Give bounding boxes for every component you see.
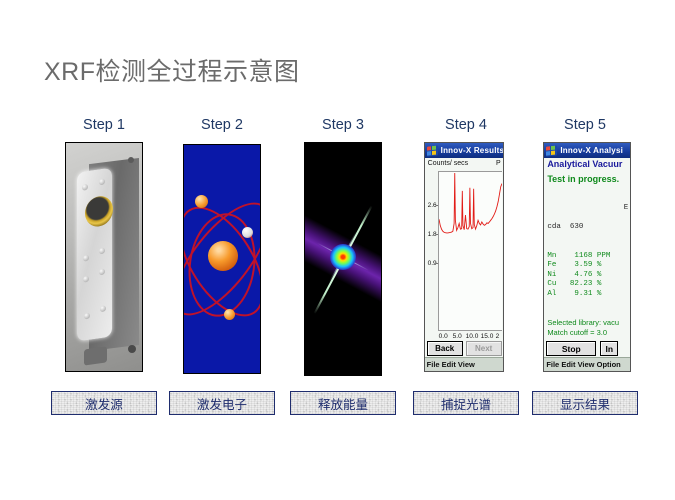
step-label-1: Step 1	[46, 114, 162, 136]
next-button[interactable]: Next	[466, 341, 502, 356]
caption-text-3: 释放能量	[318, 394, 368, 413]
xray-beam-image	[305, 143, 381, 375]
caption-text-1: 激发源	[85, 394, 123, 413]
instrument-base	[84, 347, 107, 366]
caption-box-2[interactable]: 激发电子	[169, 391, 275, 415]
caption-text-5: 显示结果	[560, 394, 610, 413]
peaks-label: P	[496, 160, 501, 167]
step-figure-1-instrument-photo	[65, 142, 143, 372]
keypad-button	[83, 276, 89, 283]
results-column-header: E	[624, 204, 629, 212]
x-tick-label: 5.0	[453, 333, 462, 340]
sample-label: cda 630	[547, 223, 610, 233]
stop-button[interactable]: Stop	[546, 341, 596, 356]
menubar[interactable]: File Edit View	[425, 357, 503, 371]
aperture-ring-icon	[84, 195, 112, 229]
result-row: Al 9.31 %	[547, 290, 610, 300]
caption-box-5[interactable]: 显示结果	[532, 391, 638, 415]
library-info: Selected library: vacu Match cutoff = 3.…	[547, 318, 619, 337]
y-axis-title: Counts/ secs	[428, 160, 468, 167]
x-tick-label: 2	[496, 333, 500, 340]
result-row: Cu 82.23 %	[547, 280, 610, 290]
keypad-button	[82, 185, 88, 192]
x-tick-label: 15.0	[481, 333, 494, 340]
back-button[interactable]: Back	[427, 341, 463, 356]
results-table: cda 630 Mn 1168 PPMFe 3.59 %Ni 4.76 %Cu …	[547, 204, 610, 318]
keypad-button	[98, 248, 104, 255]
electron-particle	[224, 309, 235, 320]
analysis-heading: Analytical Vacuur	[547, 159, 622, 169]
x-tick-label: 0.0	[439, 333, 448, 340]
analysis-panel: Analytical Vacuur Test in progress. cda …	[544, 158, 630, 357]
atom-illustration-image	[184, 145, 260, 373]
step-label-4: Step 4	[408, 114, 524, 136]
step-label-2: Step 2	[164, 114, 280, 136]
screw-icon	[128, 345, 136, 353]
caption-box-1[interactable]: 激发源	[51, 391, 157, 415]
step-figure-4-device-screen: Innov-X Results Counts/ secs P 2.6 1.8 0…	[424, 142, 504, 372]
step-label-3: Step 3	[285, 114, 401, 136]
window-title-text: Innov-X Results	[441, 146, 503, 155]
keypad-button	[98, 179, 104, 186]
spectrum-trace	[439, 172, 502, 235]
instrument-faceplate	[77, 168, 112, 342]
button-row: Back Next S	[427, 341, 503, 356]
step-figure-5-device-screen: Innov-X Analysi Analytical Vacuur Test i…	[543, 142, 631, 372]
window-titlebar: Innov-X Analysi	[544, 143, 630, 158]
keypad-button	[84, 313, 90, 320]
result-row: Mn 1168 PPM	[547, 252, 610, 262]
window-titlebar: Innov-X Results	[425, 143, 503, 158]
electron-particle	[195, 195, 208, 208]
pocketpc-window-results: Innov-X Results Counts/ secs P 2.6 1.8 0…	[425, 143, 503, 371]
step-column-5: Step 5 Innov-X Analysi Analytical Vacuur…	[527, 114, 643, 136]
pocketpc-window-analysis: Innov-X Analysi Analytical Vacuur Test i…	[544, 143, 630, 371]
results-rows: Mn 1168 PPMFe 3.59 %Ni 4.76 %Cu 82.23 %A…	[547, 252, 610, 300]
caption-text-2: 激发电子	[197, 394, 247, 413]
caption-box-4[interactable]: 捕捉光谱	[413, 391, 519, 415]
result-row: Fe 3.59 %	[547, 261, 610, 271]
step-figure-2-atom-illustration	[183, 144, 261, 374]
step-column-1: Step 1 激发源	[46, 114, 162, 136]
match-cutoff-line: Match cutoff = 3.0	[547, 328, 619, 338]
ejected-electron-particle	[242, 227, 253, 238]
info-button[interactable]: In	[600, 341, 618, 356]
step-column-2: Step 2 激发电子	[164, 114, 280, 136]
step-column-3: Step 3 释放能量	[285, 114, 401, 136]
windows-logo-icon	[427, 145, 438, 156]
result-row: Ni 4.76 %	[547, 271, 610, 281]
step-column-4: Step 4 Innov-X Results Counts/ secs P 2.…	[408, 114, 524, 136]
step-label-5: Step 5	[527, 114, 643, 136]
caption-text-4: 捕捉光谱	[441, 394, 491, 413]
instrument-photo-image	[66, 143, 142, 371]
x-tick-label: 10.0	[466, 333, 479, 340]
energy-flare-icon	[330, 244, 356, 270]
caption-box-3[interactable]: 释放能量	[290, 391, 396, 415]
windows-logo-icon	[546, 145, 557, 156]
steps-container: Step 1 激发源	[46, 114, 646, 424]
analysis-status: Test in progress.	[547, 174, 619, 184]
window-title-text: Innov-X Analysi	[560, 146, 623, 155]
keypad-button	[100, 305, 106, 312]
keypad-button	[82, 256, 88, 263]
keypad-button	[99, 268, 105, 275]
spectrum-panel: Counts/ secs P 2.6 1.8 0.9 0.0 5.0	[425, 158, 503, 357]
selected-library-line: Selected library: vacu	[547, 318, 619, 328]
button-row: Stop In	[546, 341, 630, 356]
spectrum-plot-area[interactable]	[438, 171, 502, 331]
menubar[interactable]: File Edit View Option	[544, 357, 630, 371]
step-figure-3-beam-image	[304, 142, 382, 376]
page-title: XRF检测全过程示意图	[44, 52, 300, 88]
atom-nucleus	[208, 241, 238, 271]
